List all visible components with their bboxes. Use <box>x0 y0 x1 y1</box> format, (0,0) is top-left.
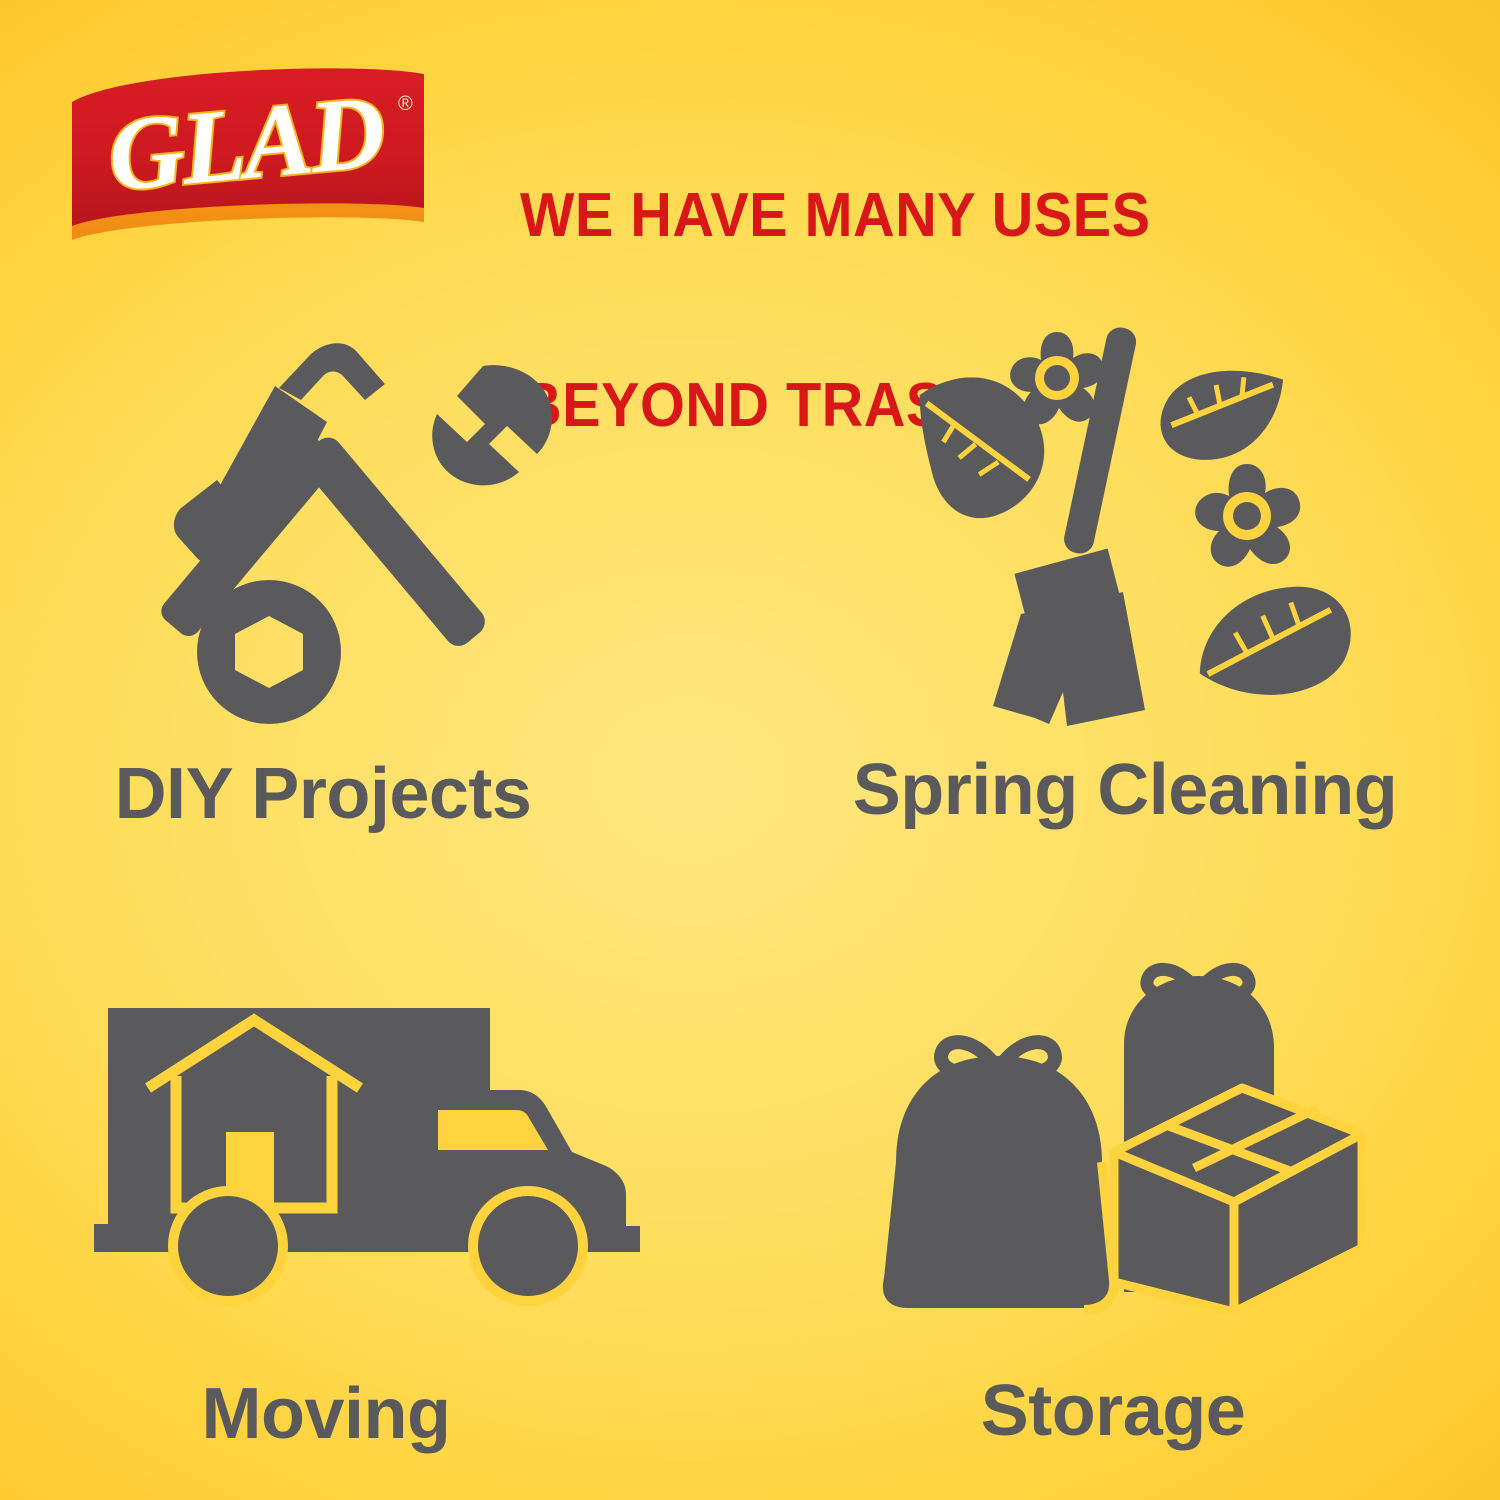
wrench-open-jaw <box>432 365 552 485</box>
hammer-wrench-icon <box>151 342 581 732</box>
truck-wheel-front <box>468 1186 588 1306</box>
use-label-storage: Storage <box>981 1375 1246 1447</box>
use-card-storage[interactable]: Storage <box>750 890 1500 1500</box>
poster-header: GLAD ® WE HAVE MANY USES BEYOND TRASH <box>0 0 1500 270</box>
leaf-icon <box>1188 577 1360 708</box>
uses-grid: DIY Projects <box>0 280 1500 1500</box>
use-card-diy[interactable]: DIY Projects <box>0 280 750 890</box>
use-label-spring-cleaning: Spring Cleaning <box>853 754 1398 826</box>
glad-logo[interactable]: GLAD ® <box>62 62 432 242</box>
leaf-icon <box>1151 347 1285 479</box>
wrench-ring <box>197 580 341 724</box>
flower-icon <box>1195 464 1300 567</box>
logo-trademark-symbol: ® <box>398 93 413 115</box>
hammer-shape <box>279 343 385 400</box>
moving-truck-icon <box>86 990 646 1320</box>
headline-line-1: WE HAVE MANY USES <box>520 184 1151 247</box>
trash-bags-box-icon <box>862 962 1382 1317</box>
use-label-moving: Moving <box>202 1378 451 1450</box>
broom-flowers-leaves-icon <box>897 314 1367 734</box>
use-card-spring-cleaning[interactable]: Spring Cleaning <box>750 280 1500 890</box>
truck-wheel-rear <box>168 1186 288 1306</box>
broom-bristles <box>993 592 1145 726</box>
tied-bag-front <box>883 1042 1112 1308</box>
poster-canvas: GLAD ® WE HAVE MANY USES BEYOND TRASH <box>0 0 1500 1500</box>
use-card-moving[interactable]: Moving <box>0 890 750 1500</box>
use-label-diy: DIY Projects <box>115 758 532 830</box>
